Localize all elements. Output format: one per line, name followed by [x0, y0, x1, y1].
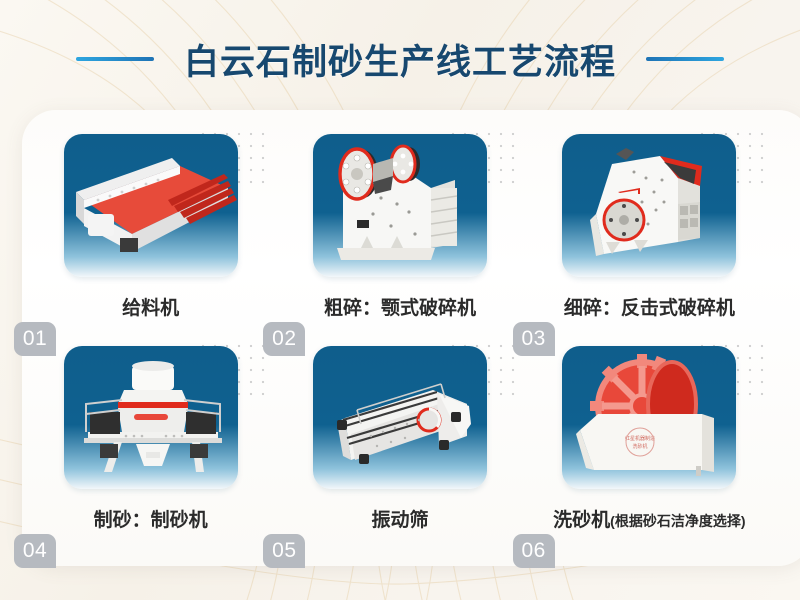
- card-label-main: 制砂：制砂机: [94, 510, 208, 531]
- process-card-04[interactable]: 04 制砂：制砂机: [26, 346, 275, 558]
- card-label-main: 粗碎：颚式破碎机: [324, 298, 476, 319]
- svg-text:红星机器制造: 红星机器制造: [625, 435, 655, 442]
- process-card-02[interactable]: 02 粗碎：颚式破碎机: [275, 134, 524, 346]
- vibrating-feeder-image: [64, 134, 238, 277]
- process-card-01[interactable]: 01 给料机: [26, 134, 275, 346]
- card-label-main: 给料机: [122, 298, 179, 319]
- svg-text:洗砂机: 洗砂机: [633, 443, 648, 450]
- process-card-03[interactable]: 03 细碎：反击式破碎机: [525, 134, 774, 346]
- card-number-badge: 01: [14, 322, 56, 356]
- card-label-main: 细碎：反击式破碎机: [564, 298, 735, 319]
- card-number-badge: 03: [513, 322, 555, 356]
- card-number-badge: 04: [14, 534, 56, 568]
- card-label: 振动筛: [371, 505, 428, 532]
- card-label: 制砂：制砂机: [94, 505, 208, 532]
- sand-making-machine-image: [64, 346, 238, 489]
- vibrating-screen-image: [313, 346, 487, 489]
- card-number-badge: 06: [513, 534, 555, 568]
- card-number-badge: 05: [263, 534, 305, 568]
- card-label-main: 振动筛: [371, 510, 428, 531]
- header-decoration-left-line: [76, 57, 154, 61]
- header-decoration-right-line: [646, 57, 724, 61]
- card-label: 洗砂机(根据砂石洁净度选择): [553, 505, 745, 532]
- process-card-06[interactable]: 红星机器制造 洗砂机 06 洗砂机(根据砂石洁净度选择): [525, 346, 774, 558]
- process-cards-grid: 01 给料机: [0, 120, 800, 566]
- card-label: 细碎：反击式破碎机: [564, 293, 735, 320]
- card-label-sub: (根据砂石洁净度选择): [610, 513, 745, 529]
- card-label: 粗碎：颚式破碎机: [324, 293, 476, 320]
- card-label-main: 洗砂机: [553, 510, 610, 531]
- card-number-badge: 02: [263, 322, 305, 356]
- impact-crusher-image: [562, 134, 736, 277]
- card-label: 给料机: [122, 293, 179, 320]
- jaw-crusher-image: [313, 134, 487, 277]
- process-card-05[interactable]: 05 振动筛: [275, 346, 524, 558]
- page-title: 白云石制砂生产线工艺流程: [184, 34, 616, 85]
- sand-washing-machine-image: 红星机器制造 洗砂机: [562, 346, 736, 489]
- page-header: 白云石制砂生产线工艺流程: [0, 28, 800, 90]
